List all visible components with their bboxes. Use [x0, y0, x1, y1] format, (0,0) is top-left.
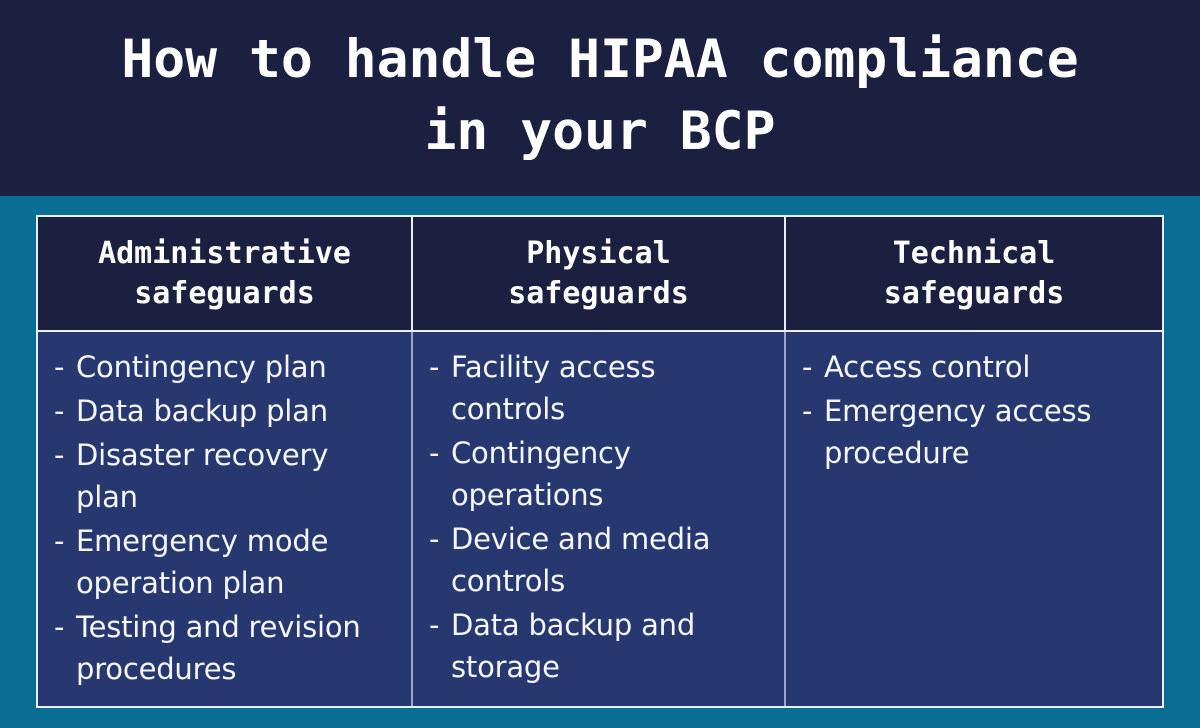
table-header-label: Physical safeguards [508, 234, 689, 314]
list-item-label: Facility access controls [451, 350, 655, 426]
dash-bullet-icon: - [54, 390, 64, 432]
safeguard-list-administrative: - Contingency plan - Data backup plan - … [54, 346, 399, 690]
list-item-label: Emergency mode operation plan [76, 524, 328, 600]
list-item-label: Contingency operations [451, 436, 631, 512]
list-item-label: Device and media controls [451, 522, 710, 598]
list-item-label: Data backup and storage [451, 608, 695, 684]
table-body-cell-technical: - Access control - Emergency access proc… [784, 332, 1162, 706]
dash-bullet-icon: - [54, 434, 64, 476]
table-header-cell-administrative: Administrative safeguards [38, 217, 411, 330]
list-item: - Facility access controls [429, 346, 772, 430]
list-item: - Data backup plan [54, 390, 399, 432]
dash-bullet-icon: - [429, 346, 439, 388]
list-item-label: Disaster recovery plan [76, 438, 328, 514]
list-item-label: Emergency access procedure [824, 394, 1091, 470]
list-item: - Emergency access procedure [802, 390, 1150, 474]
table-body-row: - Contingency plan - Data backup plan - … [38, 332, 1162, 706]
list-item: - Access control [802, 346, 1150, 388]
dash-bullet-icon: - [429, 604, 439, 646]
list-item: - Data backup and storage [429, 604, 772, 688]
safeguard-list-technical: - Access control - Emergency access proc… [802, 346, 1150, 474]
list-item: - Emergency mode operation plan [54, 520, 399, 604]
list-item: - Device and media controls [429, 518, 772, 602]
table-body-cell-physical: - Facility access controls - Contingency… [411, 332, 784, 706]
list-item-label: Testing and revision procedures [76, 610, 361, 686]
dash-bullet-icon: - [429, 518, 439, 560]
dash-bullet-icon: - [802, 346, 812, 388]
list-item-label: Access control [824, 350, 1030, 384]
table-header-cell-technical: Technical safeguards [784, 217, 1162, 330]
table-body-cell-administrative: - Contingency plan - Data backup plan - … [38, 332, 411, 706]
list-item: - Contingency operations [429, 432, 772, 516]
dash-bullet-icon: - [54, 520, 64, 562]
dash-bullet-icon: - [54, 346, 64, 388]
list-item: - Contingency plan [54, 346, 399, 388]
table-header-cell-physical: Physical safeguards [411, 217, 784, 330]
list-item: - Disaster recovery plan [54, 434, 399, 518]
page-title: How to handle HIPAA compliance in your B… [80, 24, 1120, 172]
table-header-label: Administrative safeguards [98, 234, 351, 314]
list-item: - Testing and revision procedures [54, 606, 399, 690]
dash-bullet-icon: - [54, 606, 64, 648]
list-item-label: Data backup plan [76, 394, 328, 428]
table-header-row: Administrative safeguards Physical safeg… [38, 217, 1162, 332]
safeguard-list-physical: - Facility access controls - Contingency… [429, 346, 772, 688]
safeguards-table: Administrative safeguards Physical safeg… [36, 215, 1164, 708]
dash-bullet-icon: - [429, 432, 439, 474]
list-item-label: Contingency plan [76, 350, 327, 384]
title-banner: How to handle HIPAA compliance in your B… [0, 0, 1200, 196]
table-header-label: Technical safeguards [884, 234, 1065, 314]
infographic-canvas: How to handle HIPAA compliance in your B… [0, 0, 1200, 728]
dash-bullet-icon: - [802, 390, 812, 432]
